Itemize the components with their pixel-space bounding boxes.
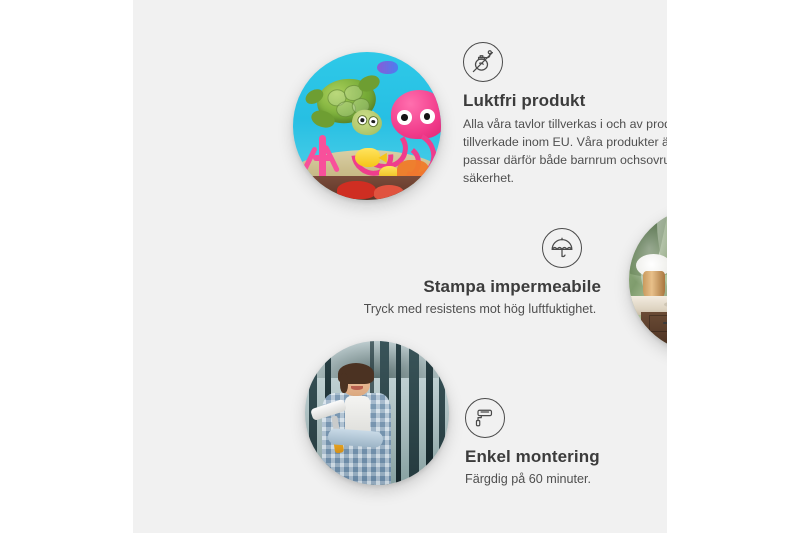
feature-title: Enkel montering bbox=[465, 446, 667, 467]
promo-infographic-canvas: Luktfri produkt Alla våra tavlor tillver… bbox=[0, 0, 800, 533]
content-panel: Luktfri produkt Alla våra tavlor tillver… bbox=[133, 0, 667, 533]
feature-body: Tryck med resistens mot hög luftfuktighe… bbox=[355, 300, 605, 318]
feature-title: Luktfri produkt bbox=[463, 90, 667, 111]
feature-title: Stampa impermeabile bbox=[355, 276, 605, 297]
no-fragrance-icon bbox=[463, 42, 503, 82]
feature-body: Färgdig på 60 minuter. bbox=[465, 470, 667, 488]
woman-paint-roller-forest-thumbnail bbox=[305, 341, 449, 485]
umbrella-icon bbox=[542, 228, 582, 268]
feature-easy-installation: Enkel montering Färgdig på 60 minuter. bbox=[465, 398, 667, 489]
feature-waterproof: Stampa impermeabile Tryck med resistens … bbox=[355, 228, 605, 319]
paint-roller-icon bbox=[465, 398, 505, 438]
bathroom-tropical-wallpaper-thumbnail bbox=[629, 208, 667, 352]
feature-odour-free: Luktfri produkt Alla våra tavlor tillver… bbox=[463, 42, 667, 188]
underwater-cartoon-mural-thumbnail bbox=[293, 52, 441, 200]
feature-body: Alla våra tavlor tillverkas i och av pro… bbox=[463, 116, 667, 188]
